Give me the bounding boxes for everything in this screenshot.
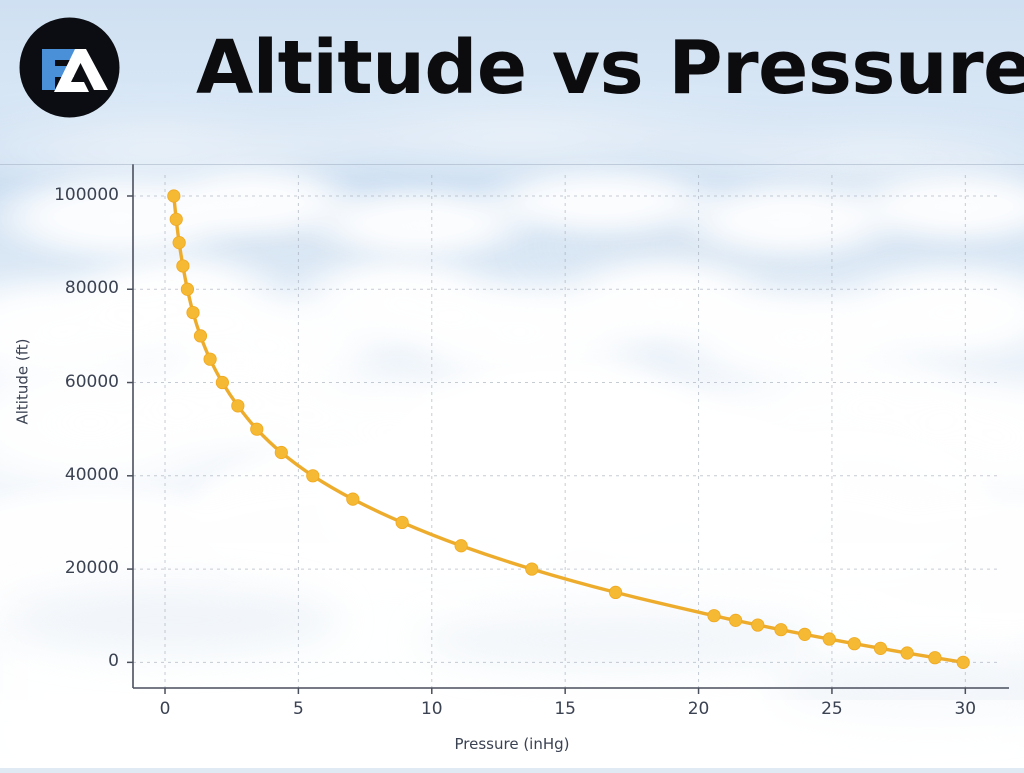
y-axis-label: Altitude (ft) (14, 339, 32, 425)
data-point-marker (901, 647, 913, 659)
x-tick-label: 0 (125, 699, 205, 719)
data-point-marker (177, 260, 189, 272)
page-header: Altitude vs Pressure (0, 0, 1024, 165)
data-point-marker (168, 190, 180, 202)
data-point-marker (823, 633, 835, 645)
x-axis-label: Pressure (inHg) (0, 735, 1024, 753)
axis-spines (133, 164, 1009, 688)
data-point-marker (181, 283, 193, 295)
grid-lines (133, 175, 1000, 688)
data-point-marker (929, 651, 941, 663)
x-tick-label: 20 (659, 699, 739, 719)
fa-logo-icon (18, 16, 121, 119)
axis-ticks (127, 196, 965, 694)
data-point-marker (729, 614, 741, 626)
data-series (168, 190, 970, 669)
y-axis-label-holder: Altitude (ft) (14, 222, 33, 542)
data-point-marker (775, 624, 787, 636)
data-point-marker (848, 638, 860, 650)
x-tick-label: 30 (925, 699, 1005, 719)
x-tick-label: 10 (392, 699, 472, 719)
data-point-marker (526, 563, 538, 575)
data-point-marker (194, 330, 206, 342)
data-point-marker (708, 610, 720, 622)
page-title: Altitude vs Pressure (196, 18, 996, 118)
data-point-marker (275, 446, 287, 458)
data-point-marker (874, 642, 886, 654)
data-point-marker (170, 213, 182, 225)
data-point-marker (957, 656, 969, 668)
x-tick-label: 25 (792, 699, 872, 719)
data-point-marker (455, 540, 467, 552)
y-tick-label: 20000 (0, 558, 119, 578)
x-tick-label: 15 (525, 699, 605, 719)
data-point-marker (609, 586, 621, 598)
y-tick-label: 100000 (0, 185, 119, 205)
data-point-marker (799, 628, 811, 640)
data-point-marker (752, 619, 764, 631)
data-point-marker (173, 236, 185, 248)
data-point-marker (232, 400, 244, 412)
header-divider (0, 164, 1024, 165)
data-point-marker (187, 306, 199, 318)
data-point-marker (347, 493, 359, 505)
data-point-marker (251, 423, 263, 435)
data-point-marker (396, 516, 408, 528)
x-tick-label: 5 (258, 699, 338, 719)
y-tick-label: 0 (0, 651, 119, 671)
data-point-marker (216, 376, 228, 388)
data-point-marker (204, 353, 216, 365)
data-point-marker (307, 470, 319, 482)
